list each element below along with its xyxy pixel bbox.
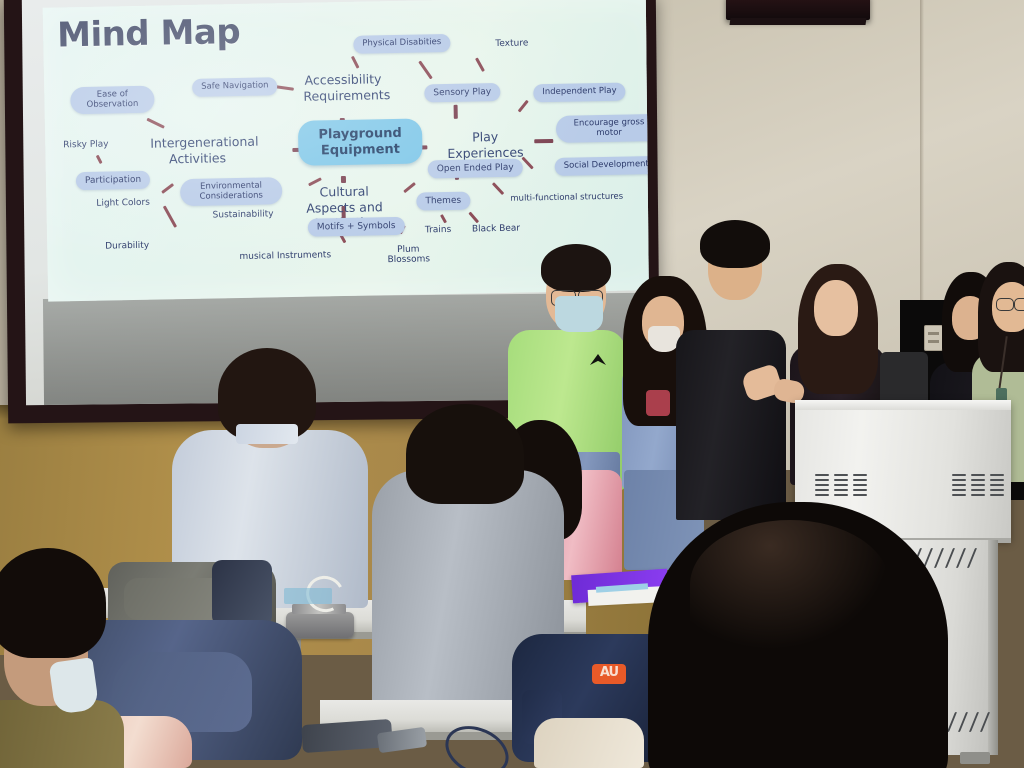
hair-highlight — [690, 520, 890, 650]
node-play-experiences[interactable]: Play Experiences — [435, 128, 536, 161]
node-durability[interactable]: Durability — [105, 241, 149, 252]
connector-musicalinst — [339, 234, 346, 243]
node-ease-of-observation[interactable]: Ease of Observation — [70, 86, 155, 115]
connector-sensory-play — [454, 105, 458, 119]
ceiling-projector-box-face — [730, 18, 867, 25]
podium-vent-4 — [952, 474, 966, 499]
power-outlet-icon — [924, 325, 943, 351]
beige-cloth — [534, 718, 644, 768]
connector-center-left — [292, 148, 300, 152]
connector-independent — [518, 100, 529, 113]
node-playground-equipment[interactable]: Playground Equipment — [298, 118, 423, 166]
node-social-development[interactable]: Social Development — [555, 156, 650, 175]
connector-encourage — [534, 139, 553, 143]
node-trains[interactable]: Trains — [425, 225, 451, 236]
connector-texture — [475, 57, 485, 72]
pencil-case[interactable] — [286, 612, 354, 638]
node-independent-play[interactable]: Independent Play — [533, 83, 626, 102]
connector-cultural-env — [308, 177, 322, 186]
connector-multifunc — [492, 182, 504, 195]
node-sensory-play[interactable]: Sensory Play — [424, 83, 500, 103]
node-open-ended-play[interactable]: Open Ended Play — [428, 159, 523, 179]
node-multi-functional-structures[interactable]: multi-functional structures — [510, 193, 623, 205]
node-black-bear[interactable]: Black Bear — [472, 224, 520, 235]
node-texture[interactable]: Texture — [495, 38, 528, 49]
connector-physdis — [351, 56, 360, 69]
connector-themes — [403, 182, 416, 193]
node-plum-blossoms[interactable]: Plum Blossoms — [387, 244, 429, 265]
tshirt-graphic — [646, 390, 670, 416]
node-participation[interactable]: Participation — [76, 171, 151, 190]
auburn-au-logo — [592, 664, 626, 684]
connector-easeobs — [146, 118, 164, 129]
connector-motifs — [341, 206, 345, 222]
podium-vent-1 — [815, 474, 829, 499]
node-physical-disabities[interactable]: Physical Disabities — [353, 34, 450, 53]
connector-center-right — [419, 145, 427, 149]
connector-riskyplay — [96, 155, 103, 164]
polo-collar — [236, 424, 298, 444]
podium-vent-6 — [990, 474, 1004, 499]
connector-socialdev — [521, 157, 533, 170]
node-accessibility-requirements[interactable]: Accessibility Requirements — [303, 71, 384, 104]
slide-title: Mind Map — [57, 12, 241, 56]
grey-backpack-side — [212, 560, 272, 626]
node-encourage-gross-motor[interactable]: Encourage gross motor — [556, 114, 650, 143]
connector-plumblossoms — [399, 225, 406, 234]
podium-vent-3 — [853, 474, 867, 499]
podium-foot — [960, 752, 990, 764]
connector-center-down — [341, 176, 346, 183]
classroom-scene: Mind Map — [0, 0, 1024, 768]
connector-safenav — [276, 85, 294, 90]
connector-openended — [455, 165, 459, 180]
node-motifs-symbols[interactable]: Motifs + Symbols — [308, 217, 405, 237]
node-sustainability[interactable]: Sustainability — [213, 209, 274, 220]
node-musical-instruments[interactable]: musical Instruments — [239, 250, 331, 262]
node-intergenerational-activities[interactable]: Intergenerational Activities — [150, 134, 245, 167]
podium-vent-5 — [971, 474, 985, 499]
blue-mat — [284, 588, 332, 604]
podium-vent-2 — [834, 474, 848, 499]
connector-lightcolors — [161, 183, 174, 194]
connector-durability — [163, 205, 177, 227]
node-themes[interactable]: Themes — [416, 192, 470, 211]
connector-trains — [440, 214, 447, 223]
node-light-colors[interactable]: Light Colors — [96, 198, 150, 209]
connector-physdis-sensory — [418, 60, 433, 79]
connector-sustainability — [239, 188, 243, 200]
ceiling-projector-box — [726, 0, 870, 20]
node-safe-navigation[interactable]: Safe Navigation — [192, 77, 278, 96]
node-environmental-considerations[interactable]: Environmental Considerations — [180, 177, 283, 206]
connector-center-up — [340, 118, 345, 125]
node-cultural-aspects[interactable]: Cultural Aspects and Aesthetics — [298, 183, 391, 232]
node-risky-play[interactable]: Risky Play — [63, 139, 108, 150]
podium-top-bevel — [795, 400, 1011, 410]
connector-blackbear — [468, 212, 479, 224]
